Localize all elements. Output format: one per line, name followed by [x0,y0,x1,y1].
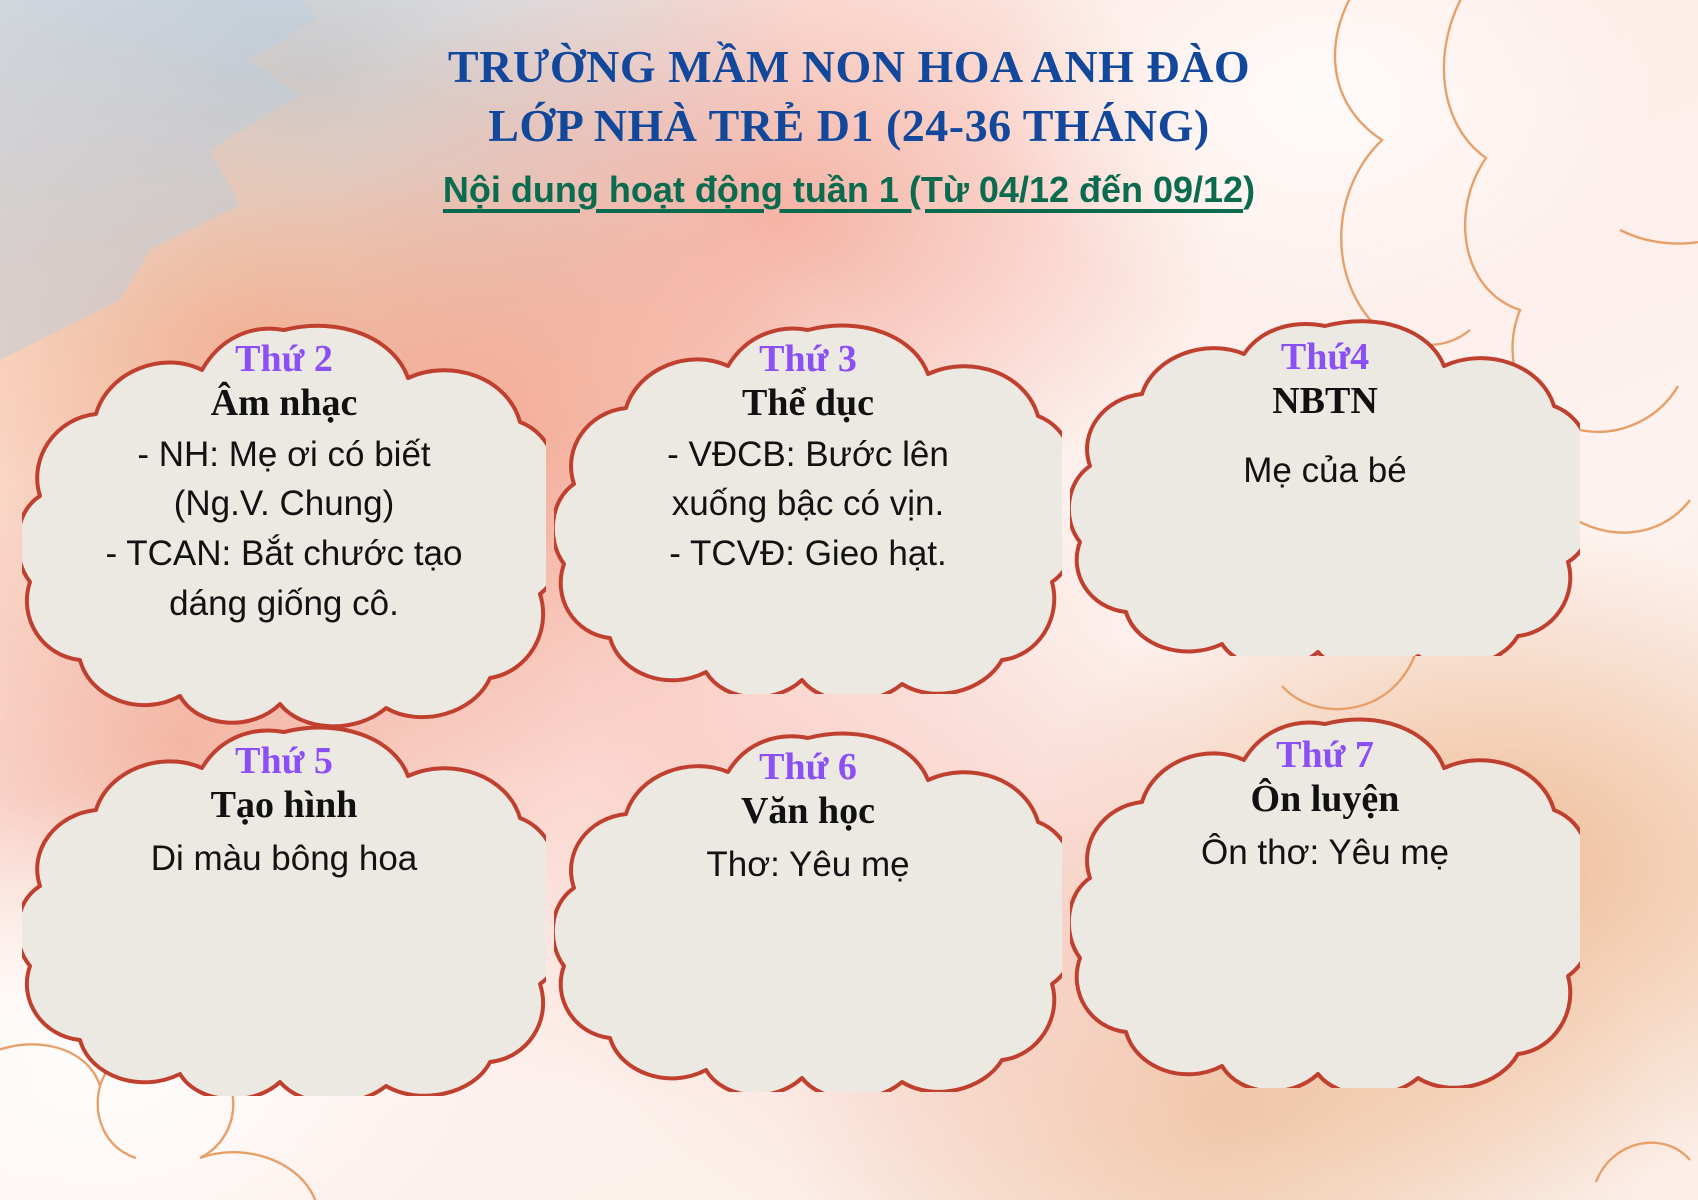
cloud-text-block: Thứ4 NBTN Mẹ của bé [1070,338,1580,495]
subject-label: Văn học [554,790,1062,834]
detail-lines: - NH: Mẹ ơi có biết (Ng.V. Chung) - TCAN… [22,430,546,629]
day-label: Thứ 5 [22,742,546,782]
activity-cloud-thu-7[interactable]: Thứ 7 Ôn luyện Ôn thơ: Yêu mẹ [1070,716,1580,1088]
detail-line: Thơ: Yêu mẹ [554,840,1062,890]
detail-line: - NH: Mẹ ơi có biết [22,430,546,480]
day-label: Thứ 7 [1070,736,1580,776]
subject-label: Thể dục [554,382,1062,426]
week-subtitle: Nội dung hoạt động tuần 1 (Từ 04/12 đến … [0,169,1698,211]
detail-line: dáng giống cô. [22,579,546,629]
activity-cloud-thu-4[interactable]: Thứ4 NBTN Mẹ của bé [1070,318,1580,656]
detail-line: Mẹ của bé [1070,446,1580,496]
week-subtitle-tail: ) [1243,169,1255,210]
subject-label: Âm nhạc [22,382,546,426]
class-title-line-2: LỚP NHÀ TRẺ D1 (24-36 THÁNG) [0,97,1698,156]
activity-cloud-thu-3[interactable]: Thứ 3 Thể dục - VĐCB: Bước lên xuống bậc… [554,322,1062,694]
school-title-line-1: TRƯỜNG MẦM NON HOA ANH ĐÀO [0,38,1698,97]
day-label: Thứ 3 [554,340,1062,380]
detail-line: Di màu bông hoa [22,834,546,884]
detail-line: - TCAN: Bắt chước tạo [22,529,546,579]
day-label: Thứ 6 [554,748,1062,788]
day-label: Thứ4 [1070,338,1580,378]
activity-cloud-thu-2[interactable]: Thứ 2 Âm nhạc - NH: Mẹ ơi có biết (Ng.V.… [22,322,546,732]
cloud-text-block: Thứ 5 Tạo hình Di màu bông hoa [22,742,546,883]
subject-label: Ôn luyện [1070,778,1580,822]
detail-lines: - VĐCB: Bước lên xuống bậc có vịn. - TCV… [554,430,1062,579]
day-label: Thứ 2 [22,340,546,380]
detail-lines: Ôn thơ: Yêu mẹ [1070,828,1580,878]
detail-lines: Di màu bông hoa [22,834,546,884]
cloud-text-block: Thứ 7 Ôn luyện Ôn thơ: Yêu mẹ [1070,736,1580,877]
activity-cloud-thu-6[interactable]: Thứ 6 Văn học Thơ: Yêu mẹ [554,730,1062,1092]
detail-line: Ôn thơ: Yêu mẹ [1070,828,1580,878]
detail-lines: Mẹ của bé [1070,446,1580,496]
subject-label: NBTN [1070,380,1580,424]
detail-line: - TCVĐ: Gieo hạt. [554,529,1062,579]
detail-lines: Thơ: Yêu mẹ [554,840,1062,890]
detail-line: - VĐCB: Bước lên [554,430,1062,480]
page-header: TRƯỜNG MẦM NON HOA ANH ĐÀO LỚP NHÀ TRẺ D… [0,0,1698,211]
subject-label: Tạo hình [22,784,546,828]
cloud-text-block: Thứ 2 Âm nhạc - NH: Mẹ ơi có biết (Ng.V.… [22,340,546,628]
detail-line: (Ng.V. Chung) [22,479,546,529]
cloud-text-block: Thứ 6 Văn học Thơ: Yêu mẹ [554,748,1062,889]
detail-line: xuống bậc có vịn. [554,479,1062,529]
week-subtitle-underlined: Nội dung hoạt động tuần 1 (Từ 04/12 đến … [443,169,1243,210]
activity-cloud-thu-5[interactable]: Thứ 5 Tạo hình Di màu bông hoa [22,724,546,1096]
cloud-text-block: Thứ 3 Thể dục - VĐCB: Bước lên xuống bậc… [554,340,1062,579]
